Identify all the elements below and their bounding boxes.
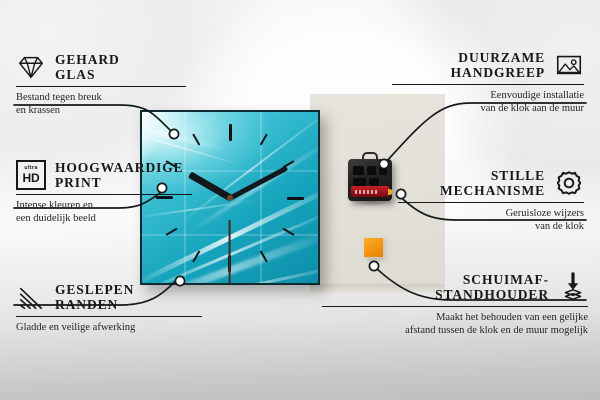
foam-spacer: [364, 238, 383, 257]
feather-streak: [191, 263, 320, 285]
feature-title: HOOGWAARDIGE PRINT: [55, 160, 184, 190]
mechanism-detail: [353, 178, 366, 186]
infographic-canvas: GEHARD GLAS Bestand tegen breuk en krass…: [0, 0, 600, 400]
divider: [16, 194, 192, 195]
beveled-edges-icon: [16, 282, 46, 312]
feature-description: Intense kleuren en een duidelijk beeld: [16, 200, 192, 225]
mechanism-detail: [367, 166, 376, 175]
feature-title: GEHARD GLAS: [55, 52, 120, 82]
battery-label: [355, 190, 377, 194]
clock-second-hand: [229, 220, 231, 286]
feature-title: STILLE MECHANISME: [440, 168, 545, 198]
feature-heading: STILLE MECHANISME: [398, 168, 584, 198]
feature-description: Bestand tegen breuk en krassen: [16, 92, 186, 117]
feature-geslepen-randen: GESLEPEN RANDEN Gladde en veilige afwerk…: [16, 282, 202, 335]
divider: [392, 84, 584, 85]
diamond-icon: [16, 52, 46, 82]
feature-description: Geruisloze wijzers van de klok: [398, 208, 584, 233]
divider: [322, 306, 588, 307]
feature-description: Gladde en veilige afwerking: [16, 322, 202, 335]
feather-streak: [181, 110, 320, 223]
feature-hoogwaardige-print: ultra HD HOOGWAARDIGE PRINT Intense kleu…: [16, 160, 192, 225]
feature-stille-mechanisme: STILLE MECHANISME Geruisloze wijzers van…: [398, 168, 584, 233]
ultra-hd-icon: ultra HD: [16, 160, 46, 190]
feature-duurzame-handgreep: DUURZAME HANDGREEP Eenvoudige installati…: [392, 50, 584, 115]
feature-heading: ultra HD HOOGWAARDIGE PRINT: [16, 160, 192, 190]
feature-description: Maakt het behouden van een gelijke afsta…: [322, 312, 588, 337]
divider: [16, 316, 202, 317]
feature-title: SCHUIMAF- STANDHOUDER: [435, 272, 549, 302]
divider: [398, 202, 584, 203]
feature-heading: GEHARD GLAS: [16, 52, 186, 82]
gear-icon: [554, 168, 584, 198]
feature-gehard-glas: GEHARD GLAS Bestand tegen breuk en krass…: [16, 52, 186, 117]
feature-heading: SCHUIMAF- STANDHOUDER: [322, 272, 588, 302]
feature-heading: DUURZAME HANDGREEP: [392, 50, 584, 80]
picture-frame-icon: [554, 50, 584, 80]
clock-tick: [230, 197, 304, 199]
feature-schuimafstandhouder: SCHUIMAF- STANDHOUDER Maakt het behouden…: [322, 272, 588, 337]
aa-battery: [351, 186, 389, 197]
feature-title: GESLEPEN RANDEN: [55, 282, 134, 312]
feature-title: DUURZAME HANDGREEP: [451, 50, 545, 80]
feature-heading: GESLEPEN RANDEN: [16, 282, 202, 312]
spacer-arrow-icon: [558, 272, 588, 302]
mechanism-detail: [353, 166, 364, 175]
mechanism-hanger-icon: [362, 152, 378, 161]
ultra-hd-icon-main-label: HD: [23, 172, 40, 184]
divider: [16, 86, 186, 87]
mechanism-detail: [369, 178, 379, 186]
clock-center-cap: [227, 195, 233, 201]
clock-tick: [229, 124, 231, 198]
feature-description: Eenvoudige installatie van de klok aan d…: [392, 90, 584, 115]
mechanism-detail: [379, 166, 387, 175]
clock-mechanism: [348, 159, 392, 201]
